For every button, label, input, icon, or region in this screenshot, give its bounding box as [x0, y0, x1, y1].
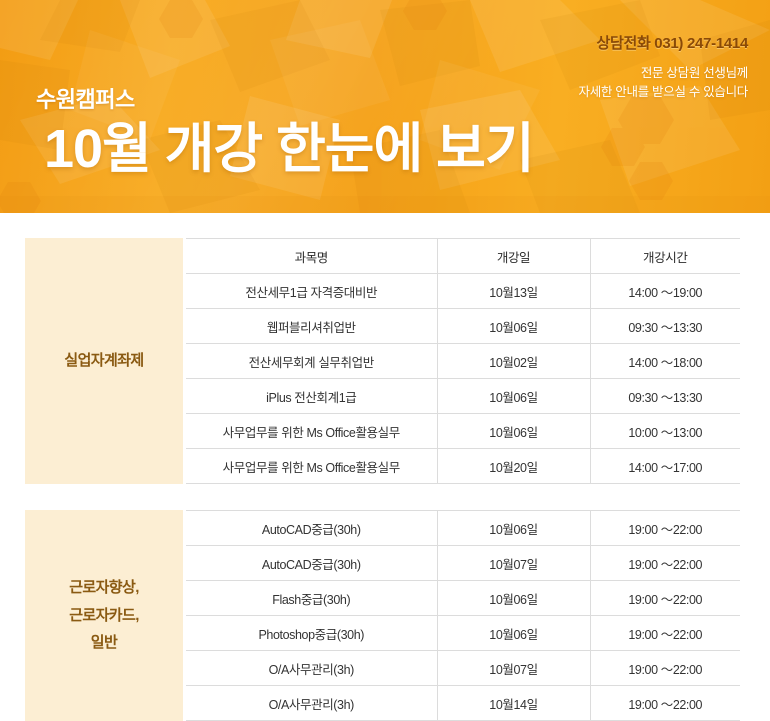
start-date-cell: 10월02일	[437, 344, 590, 379]
table-row: O/A사무관리(3h)10월07일19:00 ～22:00	[186, 651, 740, 686]
course-name-cell: 전산세무1급 자격증대비반	[186, 274, 437, 309]
table-row: Flash중급(30h)10월06일19:00 ～22:00	[186, 581, 740, 616]
table-row: 전산세무1급 자격증대비반10월13일14:00 ～19:00	[186, 274, 740, 309]
course-name-cell: 사무업무를 위한 Ms Office활용실무	[186, 449, 437, 484]
table-header-row: 과목명개강일개강시간	[186, 239, 740, 274]
table-row: Photoshop중급(30h)10월06일19:00 ～22:00	[186, 616, 740, 651]
course-name-cell: 전산세무회계 실무취업반	[186, 344, 437, 379]
start-date-cell: 10월06일	[437, 309, 590, 344]
contact-subtext-line1: 전문 상담원 선생님께	[641, 62, 748, 81]
start-time-cell: 14:00 ～18:00	[590, 344, 740, 379]
table-row: 사무업무를 위한 Ms Office활용실무10월20일14:00 ～17:00	[186, 449, 740, 484]
course-name-cell: O/A사무관리(3h)	[186, 651, 437, 686]
table-row: iPlus 전산회계1급10월06일09:30 ～13:30	[186, 379, 740, 414]
campus-label: 수원캠퍼스	[36, 82, 135, 114]
category-label: 실업자계좌제	[64, 347, 143, 375]
contact-phone: 상담전화 031) 247-1414	[596, 32, 748, 53]
table-row: AutoCAD중급(30h)10월06일19:00 ～22:00	[186, 511, 740, 546]
start-date-cell: 10월06일	[437, 511, 590, 546]
column-header-date: 개강일	[437, 239, 590, 274]
table-row: 전산세무회계 실무취업반10월02일14:00 ～18:00	[186, 344, 740, 379]
start-time-cell: 19:00 ～22:00	[590, 686, 740, 721]
category-cell: 실업자계좌제	[25, 238, 183, 484]
start-date-cell: 10월20일	[437, 449, 590, 484]
course-name-cell: AutoCAD중급(30h)	[186, 546, 437, 581]
start-time-cell: 14:00 ～19:00	[590, 274, 740, 309]
start-time-cell: 10:00 ～13:00	[590, 414, 740, 449]
start-time-cell: 19:00 ～22:00	[590, 511, 740, 546]
schedule-group: 근로자향상, 근로자카드, 일반AutoCAD중급(30h)10월06일19:0…	[25, 510, 740, 721]
category-label: 근로자향상, 근로자카드, 일반	[69, 574, 139, 657]
page-banner: 수원캠퍼스 10월 개강 한눈에 보기 상담전화 031) 247-1414 전…	[0, 0, 770, 213]
start-date-cell: 10월13일	[437, 274, 590, 309]
course-name-cell: 사무업무를 위한 Ms Office활용실무	[186, 414, 437, 449]
start-time-cell: 09:30 ～13:30	[590, 379, 740, 414]
start-time-cell: 19:00 ～22:00	[590, 581, 740, 616]
start-time-cell: 14:00 ～17:00	[590, 449, 740, 484]
schedule-table: 과목명개강일개강시간전산세무1급 자격증대비반10월13일14:00 ～19:0…	[186, 238, 740, 484]
contact-subtext-line2: 자세한 안내를 받으실 수 있습니다	[579, 81, 749, 100]
table-row: O/A사무관리(3h)10월14일19:00 ～22:00	[186, 686, 740, 721]
course-schedule: 실업자계좌제과목명개강일개강시간전산세무1급 자격증대비반10월13일14:00…	[0, 238, 770, 721]
column-header-time: 개강시간	[590, 239, 740, 274]
start-date-cell: 10월07일	[437, 546, 590, 581]
start-date-cell: 10월07일	[437, 651, 590, 686]
course-name-cell: AutoCAD중급(30h)	[186, 511, 437, 546]
table-row: 사무업무를 위한 Ms Office활용실무10월06일10:00 ～13:00	[186, 414, 740, 449]
start-date-cell: 10월06일	[437, 379, 590, 414]
start-time-cell: 19:00 ～22:00	[590, 616, 740, 651]
schedule-table-wrapper: AutoCAD중급(30h)10월06일19:00 ～22:00AutoCAD중…	[183, 510, 740, 721]
schedule-table-wrapper: 과목명개강일개강시간전산세무1급 자격증대비반10월13일14:00 ～19:0…	[183, 238, 740, 484]
start-date-cell: 10월06일	[437, 581, 590, 616]
start-date-cell: 10월06일	[437, 616, 590, 651]
schedule-group: 실업자계좌제과목명개강일개강시간전산세무1급 자격증대비반10월13일14:00…	[25, 238, 740, 484]
schedule-table: AutoCAD중급(30h)10월06일19:00 ～22:00AutoCAD중…	[186, 510, 740, 721]
start-time-cell: 19:00 ～22:00	[590, 546, 740, 581]
course-name-cell: Photoshop중급(30h)	[186, 616, 437, 651]
start-time-cell: 19:00 ～22:00	[590, 651, 740, 686]
page-title: 10월 개강 한눈에 보기	[44, 122, 534, 176]
course-name-cell: Flash중급(30h)	[186, 581, 437, 616]
table-row: AutoCAD중급(30h)10월07일19:00 ～22:00	[186, 546, 740, 581]
start-time-cell: 09:30 ～13:30	[590, 309, 740, 344]
course-name-cell: iPlus 전산회계1급	[186, 379, 437, 414]
course-name-cell: 웹퍼블리셔취업반	[186, 309, 437, 344]
column-header-name: 과목명	[186, 239, 437, 274]
start-date-cell: 10월14일	[437, 686, 590, 721]
table-row: 웹퍼블리셔취업반10월06일09:30 ～13:30	[186, 309, 740, 344]
category-cell: 근로자향상, 근로자카드, 일반	[25, 510, 183, 721]
start-date-cell: 10월06일	[437, 414, 590, 449]
course-name-cell: O/A사무관리(3h)	[186, 686, 437, 721]
